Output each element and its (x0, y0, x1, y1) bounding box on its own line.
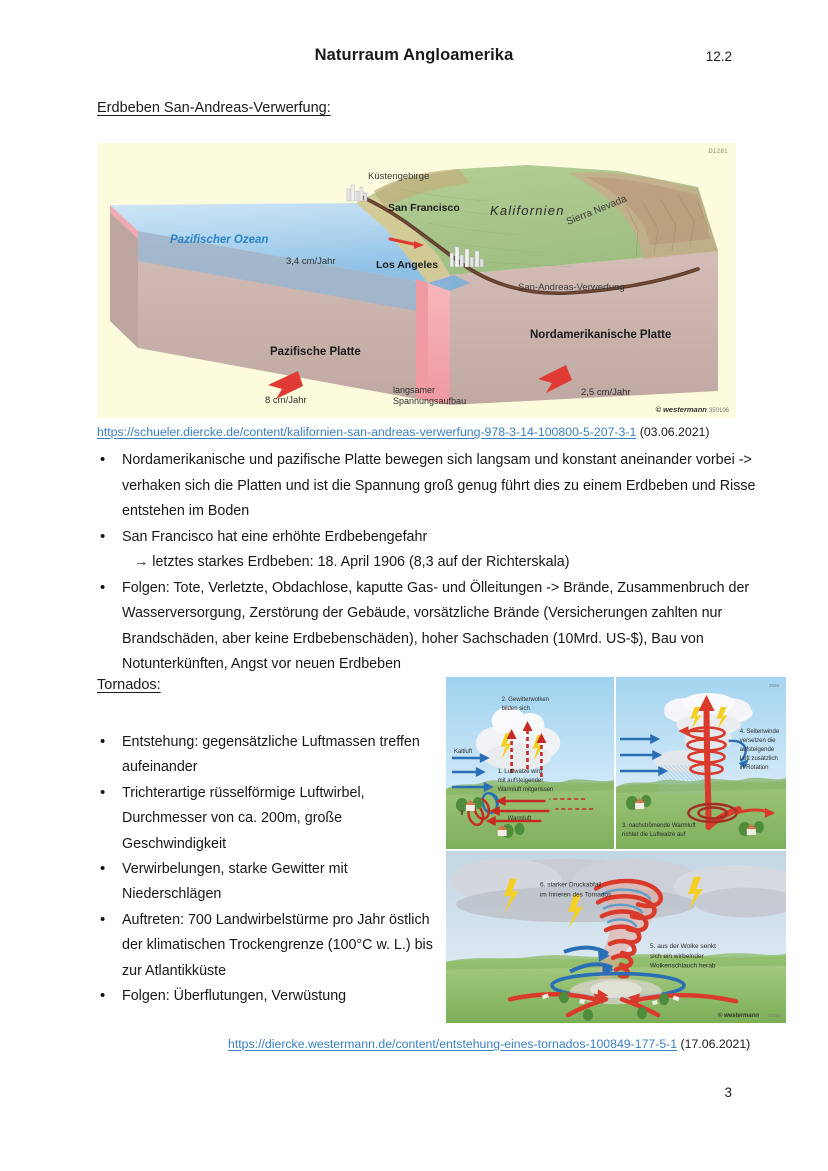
list-item: Verwirbelungen, starke Gewitter mit Nied… (122, 857, 437, 908)
label-spannung-line1: langsamer (393, 385, 435, 395)
citation-link-earthquake[interactable]: https://schueler.diercke.de/content/kali… (97, 425, 636, 439)
list-item-subline: → letztes starkes Erdbeben: 18. April 19… (122, 550, 757, 576)
bullet-list-tornados: Entstehung: gegensätzliche Luftmassen tr… (97, 730, 437, 1009)
label-rate-northamerican: 2,5 cm/Jahr (581, 387, 631, 398)
label-step1-line1: 1. Luftwalze wird (498, 769, 542, 775)
tornado-top-row: Kaltluft 2. Gewitterwolken bilden sich 1… (446, 677, 786, 849)
list-item: San Francisco hat eine erhöhte Erdbebeng… (122, 525, 757, 576)
label-pazifischer-ozean: Pazifischer Ozean (170, 234, 268, 246)
tornado-panel-2: 4. Seitenwinde versetzen die aufsteigend… (616, 677, 786, 849)
list-item: Folgen: Überflutungen, Verwüstung (122, 984, 437, 1009)
label-spannung-line2: Spannungsaufbau (393, 396, 466, 406)
list-item: Folgen: Tote, Verletzte, Obdachlose, kap… (122, 576, 757, 678)
label-step4-line3: aufsteigende (740, 747, 775, 753)
tornado-panel-3-svg: 6. starker Druckabfall im Inneren des To… (446, 851, 786, 1023)
label-kalifornien: Kalifornien (490, 203, 565, 218)
page-number: 3 (724, 1085, 732, 1100)
label-step4-line2: versetzen die (740, 738, 776, 744)
label-san-francisco: San Francisco (388, 202, 460, 214)
list-item: Auftreten: 700 Landwirbelstürme pro Jahr… (122, 908, 437, 984)
label-step6-line2: im Inneren des Tornados (540, 892, 611, 899)
tornado-panel-1: Kaltluft 2. Gewitterwolken bilden sich 1… (446, 677, 616, 849)
san-andreas-diagram-svg: Küstengebirge San Francisco Kalifornien … (98, 143, 736, 418)
citation-tornado: https://diercke.westermann.de/content/en… (228, 1037, 750, 1051)
label-step1-line3: Warmluft mitgerissen (498, 787, 554, 793)
list-item: Nordamerikanische und pazifische Platte … (122, 448, 757, 525)
tornado-panel-1-svg: Kaltluft 2. Gewitterwolken bilden sich 1… (446, 677, 614, 849)
label-step5-line1: 5. aus der Wolke senkt (650, 943, 716, 950)
label-nordamerikanische-platte: Nordamerikanische Platte (530, 329, 671, 341)
label-step2-line1: 2. Gewitterwolken (502, 697, 549, 703)
label-rate-coast: 3,4 cm/Jahr (286, 256, 336, 267)
figure-credit-tornado: © westermann (718, 1012, 759, 1019)
label-kaltluft: Kaltluft (454, 749, 473, 755)
label-step6-line1: 6. starker Druckabfall (540, 882, 601, 889)
figure-credit: © westermann 350106 (655, 405, 729, 414)
figure-code-tornado: 2848 (769, 683, 780, 688)
label-step3-line1: 3. nachströmende Warmluft (622, 823, 696, 829)
page-title: Naturraum Angloamerika (0, 46, 828, 65)
label-kuestengebirge: Küstengebirge (368, 171, 429, 182)
document-page: Naturraum Angloamerika 12.2 Erdbeben San… (0, 0, 828, 1171)
label-rate-pacific: 8 cm/Jahr (265, 395, 307, 406)
chapter-number: 12.2 (706, 49, 732, 64)
label-warmluft: Warmluft (508, 816, 532, 822)
figure-san-andreas-fault: Küstengebirge San Francisco Kalifornien … (98, 143, 736, 418)
list-item: Entstehung: gegensätzliche Luftmassen tr… (122, 730, 437, 781)
tornado-panel-3: 6. starker Druckabfall im Inneren des To… (446, 849, 786, 1023)
label-step4-line1: 4. Seitenwinde (740, 729, 780, 735)
label-step2-line2: bilden sich (502, 706, 530, 712)
label-pazifische-platte: Pazifische Platte (270, 346, 361, 358)
tornado-panel-2-svg: 4. Seitenwinde versetzen die aufsteigend… (616, 677, 786, 849)
figure-credit-number-tornado: 31193 (768, 1013, 781, 1018)
citation-date-earthquake: (03.06.2021) (640, 425, 710, 439)
label-los-angeles: Los Angeles (376, 259, 438, 271)
figure-tornado-formation: Kaltluft 2. Gewitterwolken bilden sich 1… (446, 677, 786, 1025)
document-header: Naturraum Angloamerika 12.2 (0, 46, 828, 74)
bullet-list-earthquake: Nordamerikanische und pazifische Platte … (97, 448, 757, 678)
citation-link-tornado[interactable]: https://diercke.westermann.de/content/en… (228, 1037, 677, 1051)
label-step1-line2: mit aufsteigender (498, 778, 544, 784)
label-step5-line2: sich ein wirbelnder (650, 953, 705, 960)
list-item: Trichterartige rüsselförmige Luftwirbel,… (122, 781, 437, 857)
section-heading-earthquake: Erdbeben San-Andreas-Verwerfung: (97, 100, 331, 116)
label-san-andreas-verwerfung: San-Andreas-Verwerfung (518, 282, 625, 293)
citation-date-tornado: (17.06.2021) (681, 1037, 751, 1051)
label-step4-line5: in Rotation (740, 765, 769, 771)
list-item-text: San Francisco hat eine erhöhte Erdbebeng… (122, 529, 427, 545)
section-heading-tornados: Tornados: (97, 677, 161, 693)
citation-earthquake: https://schueler.diercke.de/content/kali… (97, 425, 710, 439)
figure-code-label: D1281 (708, 149, 728, 155)
label-step5-line3: Wolkenschlauch herab (650, 963, 716, 970)
label-step3-line2: richtet die Luftwalze auf (622, 832, 686, 838)
label-step4-line4: Luft zusätzlich (740, 756, 778, 762)
